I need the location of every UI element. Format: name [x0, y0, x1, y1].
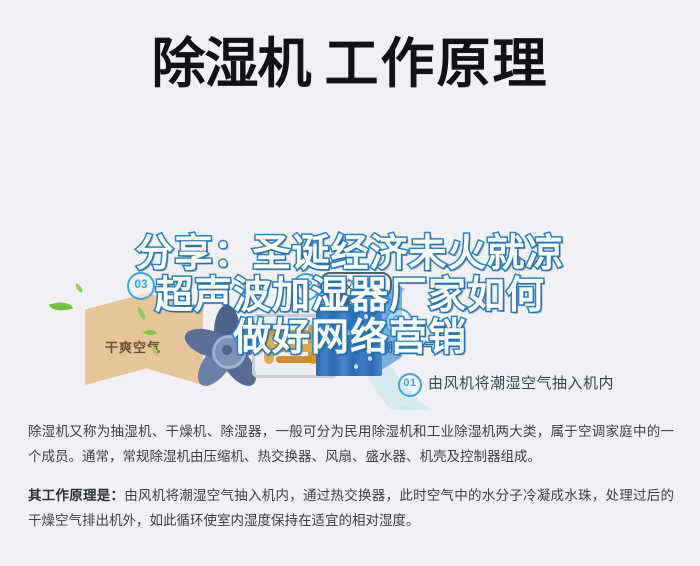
- header-banner: 除湿机工作原理: [0, 0, 700, 128]
- water-droplet-icon: [354, 364, 358, 369]
- article-paragraph-2-lead: 其工作原理是：: [28, 488, 124, 504]
- article-paragraph-2-text: 由风机将潮湿空气抽入机内，通过热交换器，此时空气中的水分子冷凝成水珠，处理过后的…: [28, 488, 674, 529]
- page-title: 除湿机工作原理: [0, 34, 700, 94]
- step-number-icon: 01: [398, 373, 422, 397]
- article-paragraph-1: 除湿机又称为抽湿机、干燥机、除湿器，一般可分为民用除湿机和工业除湿机两大类，属于…: [28, 420, 674, 470]
- article-body: 除湿机又称为抽湿机、干燥机、除湿器，一般可分为民用除湿机和工业除湿机两大类，属于…: [28, 420, 674, 548]
- overlay-headline-line-3: 做好网络营销: [0, 316, 700, 358]
- page-title-part1: 除湿机: [152, 34, 311, 94]
- overlay-headline-line-1: 分享：圣诞经济未火就凉: [0, 232, 700, 274]
- page-title-part2: 工作原理: [325, 34, 549, 94]
- diagram-step-01: 01由风机将潮湿空气抽入机内: [398, 372, 614, 397]
- page-root: 除湿机工作原理 干爽空气: [0, 0, 700, 566]
- article-paragraph-2: 其工作原理是：由风机将潮湿空气抽入机内，通过热交换器，此时空气中的水分子冷凝成水…: [28, 484, 674, 534]
- overlay-headline-line-2: 超声波加湿器厂家如何: [0, 274, 700, 316]
- step-text: 由风机将潮湿空气抽入机内: [428, 375, 614, 392]
- overlay-headline: 分享：圣诞经济未火就凉 超声波加湿器厂家如何 做好网络营销: [0, 232, 700, 358]
